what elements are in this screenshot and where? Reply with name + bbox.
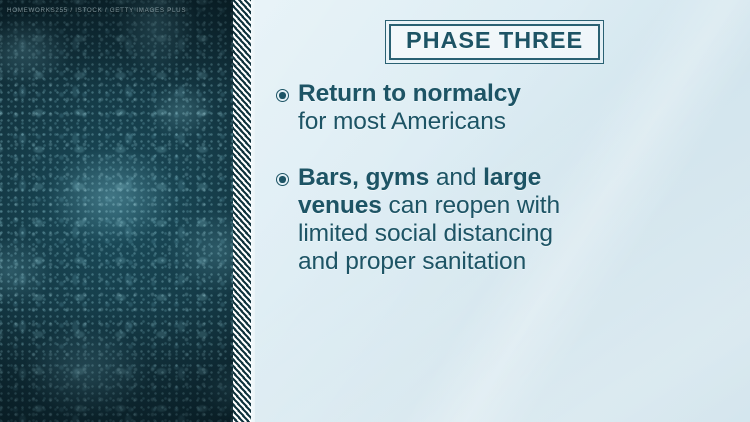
photo-credit: HOMEWORKS255 / ISTOCK / GETTY IMAGES PLU… bbox=[7, 7, 186, 14]
coronavirus-photo: HOMEWORKS255 / ISTOCK / GETTY IMAGES PLU… bbox=[0, 0, 236, 422]
page-title: PHASE THREE bbox=[406, 29, 583, 53]
bullet-text-line: Bars, gyms and large bbox=[298, 164, 560, 192]
slide-graphic: HOMEWORKS255 / ISTOCK / GETTY IMAGES PLU… bbox=[0, 0, 750, 422]
bullet-text: Bars, gyms and largevenues can reopen wi… bbox=[298, 164, 560, 276]
bullet-text-regular: can reopen with bbox=[382, 192, 560, 219]
bullet-text-line: for most Americans bbox=[298, 108, 521, 136]
bullet-text-regular: and proper sanitation bbox=[298, 248, 526, 275]
diagonal-stripe-divider bbox=[233, 0, 251, 422]
fisheye-bullet-icon bbox=[276, 89, 289, 102]
bullet-text-line: limited social distancing bbox=[298, 220, 560, 248]
phase-title-inner-border: PHASE THREE bbox=[389, 24, 600, 60]
phase-title-box: PHASE THREE bbox=[385, 20, 604, 64]
bullet-item: Bars, gyms and largevenues can reopen wi… bbox=[276, 164, 746, 276]
bullet-text: Return to normalcyfor most Americans bbox=[298, 80, 521, 136]
bullet-text-line: venues can reopen with bbox=[298, 192, 560, 220]
bullet-text-bold: large bbox=[483, 164, 541, 191]
bullet-item: Return to normalcyfor most Americans bbox=[276, 80, 746, 136]
bullet-list: Return to normalcyfor most AmericansBars… bbox=[276, 80, 746, 276]
bullet-text-bold: venues bbox=[298, 192, 382, 219]
bullet-text-bold: Return to normalcy bbox=[298, 80, 521, 107]
bullet-text-regular: and bbox=[429, 164, 483, 191]
bullet-text-line: Return to normalcy bbox=[298, 80, 521, 108]
fisheye-bullet-icon bbox=[276, 173, 289, 186]
bullet-text-bold: Bars, gyms bbox=[298, 164, 429, 191]
bullet-text-regular: for most Americans bbox=[298, 108, 506, 135]
bullet-text-regular: limited social distancing bbox=[298, 220, 553, 247]
bullet-text-line: and proper sanitation bbox=[298, 248, 560, 276]
photo-vignette bbox=[0, 0, 236, 422]
